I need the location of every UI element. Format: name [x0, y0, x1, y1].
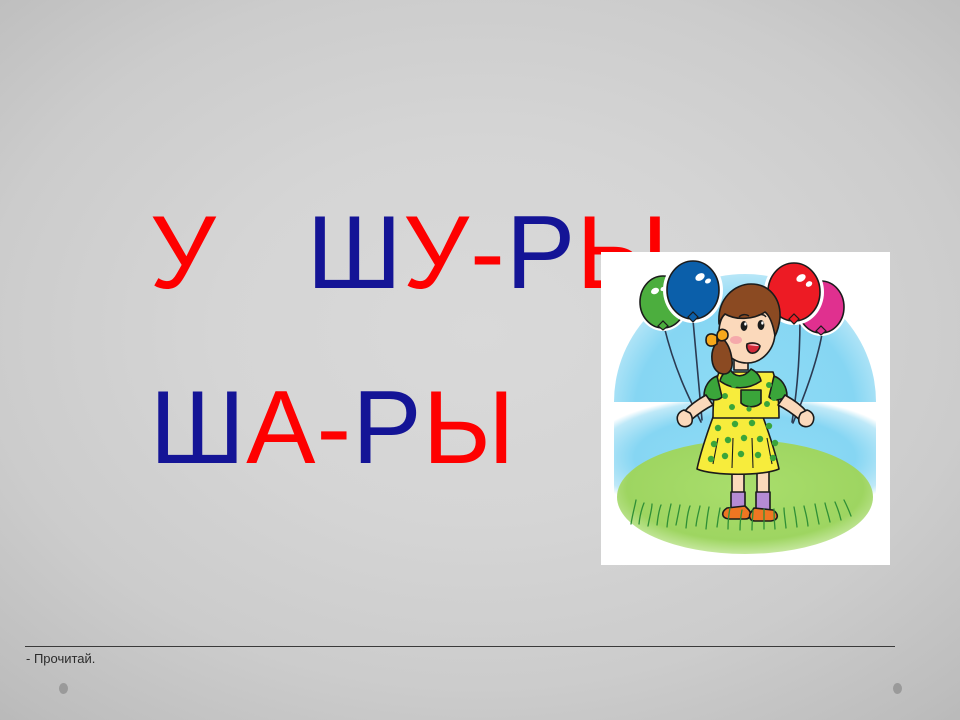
footer-note: - Прочитай. — [26, 651, 95, 666]
word-line-2: ША-РЫ — [30, 272, 516, 584]
line2-letter-a: А — [246, 370, 316, 486]
line2-letter-sha: Ш — [150, 370, 246, 486]
line1-letter-er: Р — [506, 195, 576, 311]
girl-with-balloons-image — [601, 252, 890, 565]
line2-letter-yery: Ы — [423, 370, 516, 486]
footer-dot-right-icon — [893, 683, 902, 694]
line2-letter-er: Р — [352, 370, 422, 486]
slide-canvas: У ШУ-РЫ ША-РЫ — [0, 0, 960, 720]
blue-balloon — [663, 257, 723, 323]
line2-hyphen: - — [317, 370, 353, 486]
footer-divider — [25, 646, 895, 647]
footer-dot-left-icon — [59, 683, 68, 694]
illustration-svg — [601, 252, 890, 565]
